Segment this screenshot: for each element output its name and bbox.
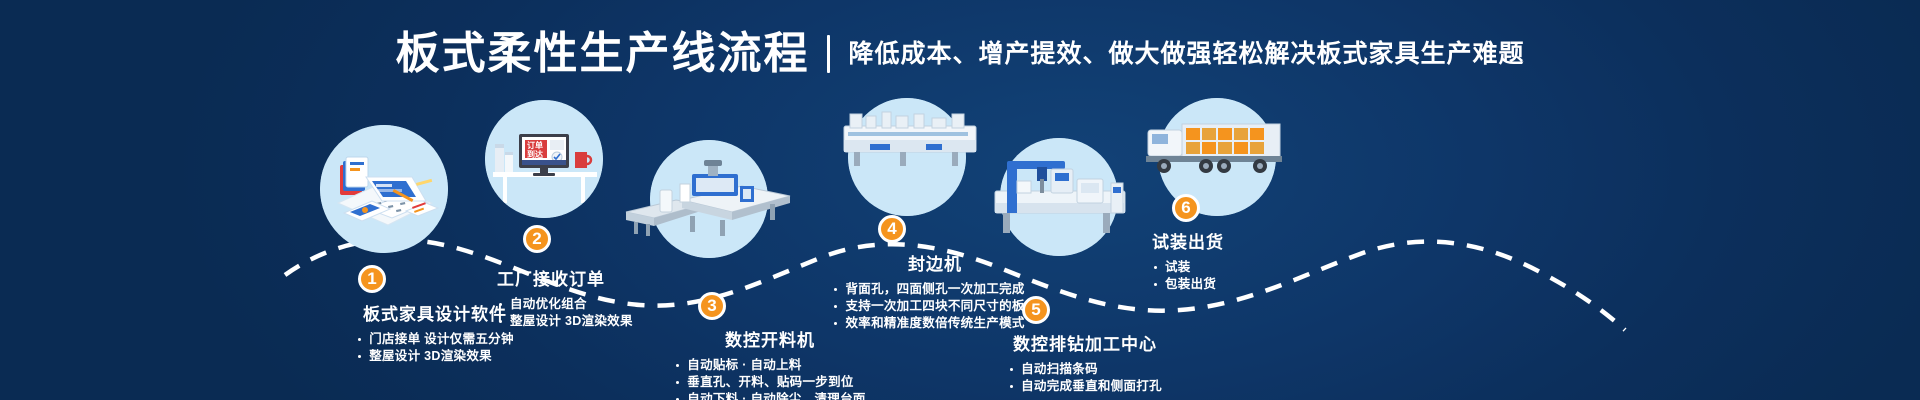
svg-text:到达: 到达 <box>527 149 543 159</box>
step-1-bullets: 门店接单 设计仅需五分钟 整屋设计 3D渲染效果 <box>356 331 514 365</box>
step-1-number: 1 <box>358 265 386 293</box>
cnc-cutting-machine-photo <box>620 160 810 240</box>
step-3-text: 数控开料机 自动贴标 · 自动上料 垂直孔、开料、贴码一步到位 自动下料 · 自… <box>640 326 900 400</box>
step-5-title: 数控排钻加工中心 <box>960 330 1210 355</box>
step-3-bullets: 自动贴标 · 自动上料 垂直孔、开料、贴码一步到位 自动下料 · 自动除尘、清理… <box>674 357 865 400</box>
list-item: 整屋设计 3D渲染效果 <box>356 348 514 365</box>
banner-root: 板式柔性生产线流程 降低成本、增产提效、做大做强轻松解决板式家具生产难题 <box>0 0 1920 400</box>
step-5-number: 5 <box>1022 296 1050 324</box>
step-5-text: 数控排钻加工中心 自动扫描条码 自动完成垂直和侧面打孔 <box>960 330 1210 395</box>
step-2-illustration: 订单 到达 <box>485 100 603 218</box>
title-divider <box>827 35 830 73</box>
list-item: 自动完成垂直和侧面打孔 <box>1008 378 1162 395</box>
laptop-design-software-icon <box>320 125 448 253</box>
list-item: 自动扫描条码 <box>1008 361 1162 378</box>
list-item: 背面孔，四面侧孔一次加工完成 <box>832 281 1037 298</box>
step-5-bullets: 自动扫描条码 自动完成垂直和侧面打孔 <box>1008 361 1162 395</box>
desktop-order-received-icon: 订单 到达 <box>485 100 603 218</box>
step-2-number: 2 <box>523 225 551 253</box>
svg-text:订单: 订单 <box>527 140 543 150</box>
step-6-bullets: 试装 包装出货 <box>1152 259 1382 293</box>
list-item: 自动下料 · 自动除尘、清理台面 <box>674 391 865 400</box>
list-item: 包装出货 <box>1152 276 1382 293</box>
banner-header: 板式柔性生产线流程 降低成本、增产提效、做大做强轻松解决板式家具生产难题 <box>0 28 1920 80</box>
list-item: 支持一次加工四块不同尺寸的板材 <box>832 298 1037 315</box>
truck-shipping-photo <box>1142 112 1292 192</box>
page-title: 板式柔性生产线流程 <box>395 28 809 80</box>
page-subtitle: 降低成本、增产提效、做大做强轻松解决板式家具生产难题 <box>848 28 1524 80</box>
step-4-bullets: 背面孔，四面侧孔一次加工完成 支持一次加工四块不同尺寸的板材 效率和精准度数倍传… <box>832 281 1037 332</box>
step-2-title: 工厂接收订单 <box>497 265 747 290</box>
step-6-title: 试装出货 <box>1152 228 1382 253</box>
step-6-number: 6 <box>1172 194 1200 222</box>
list-item: 垂直孔、开料、贴码一步到位 <box>674 374 865 391</box>
step-4-title: 封边机 <box>810 250 1060 275</box>
step-6-text: 试装出货 试装 包装出货 <box>1152 228 1382 293</box>
edge-banding-machine-photo <box>840 110 980 180</box>
list-item: 门店接单 设计仅需五分钟 <box>356 331 514 348</box>
list-item: 自动贴标 · 自动上料 <box>674 357 865 374</box>
list-item: 试装 <box>1152 259 1382 276</box>
step-1-illustration <box>320 125 448 253</box>
step-4-text: 封边机 背面孔，四面侧孔一次加工完成 支持一次加工四块不同尺寸的板材 效率和精准… <box>810 250 1060 332</box>
step-4-number: 4 <box>878 215 906 243</box>
step-3-number: 3 <box>698 292 726 320</box>
cnc-drilling-center-photo <box>985 145 1135 245</box>
